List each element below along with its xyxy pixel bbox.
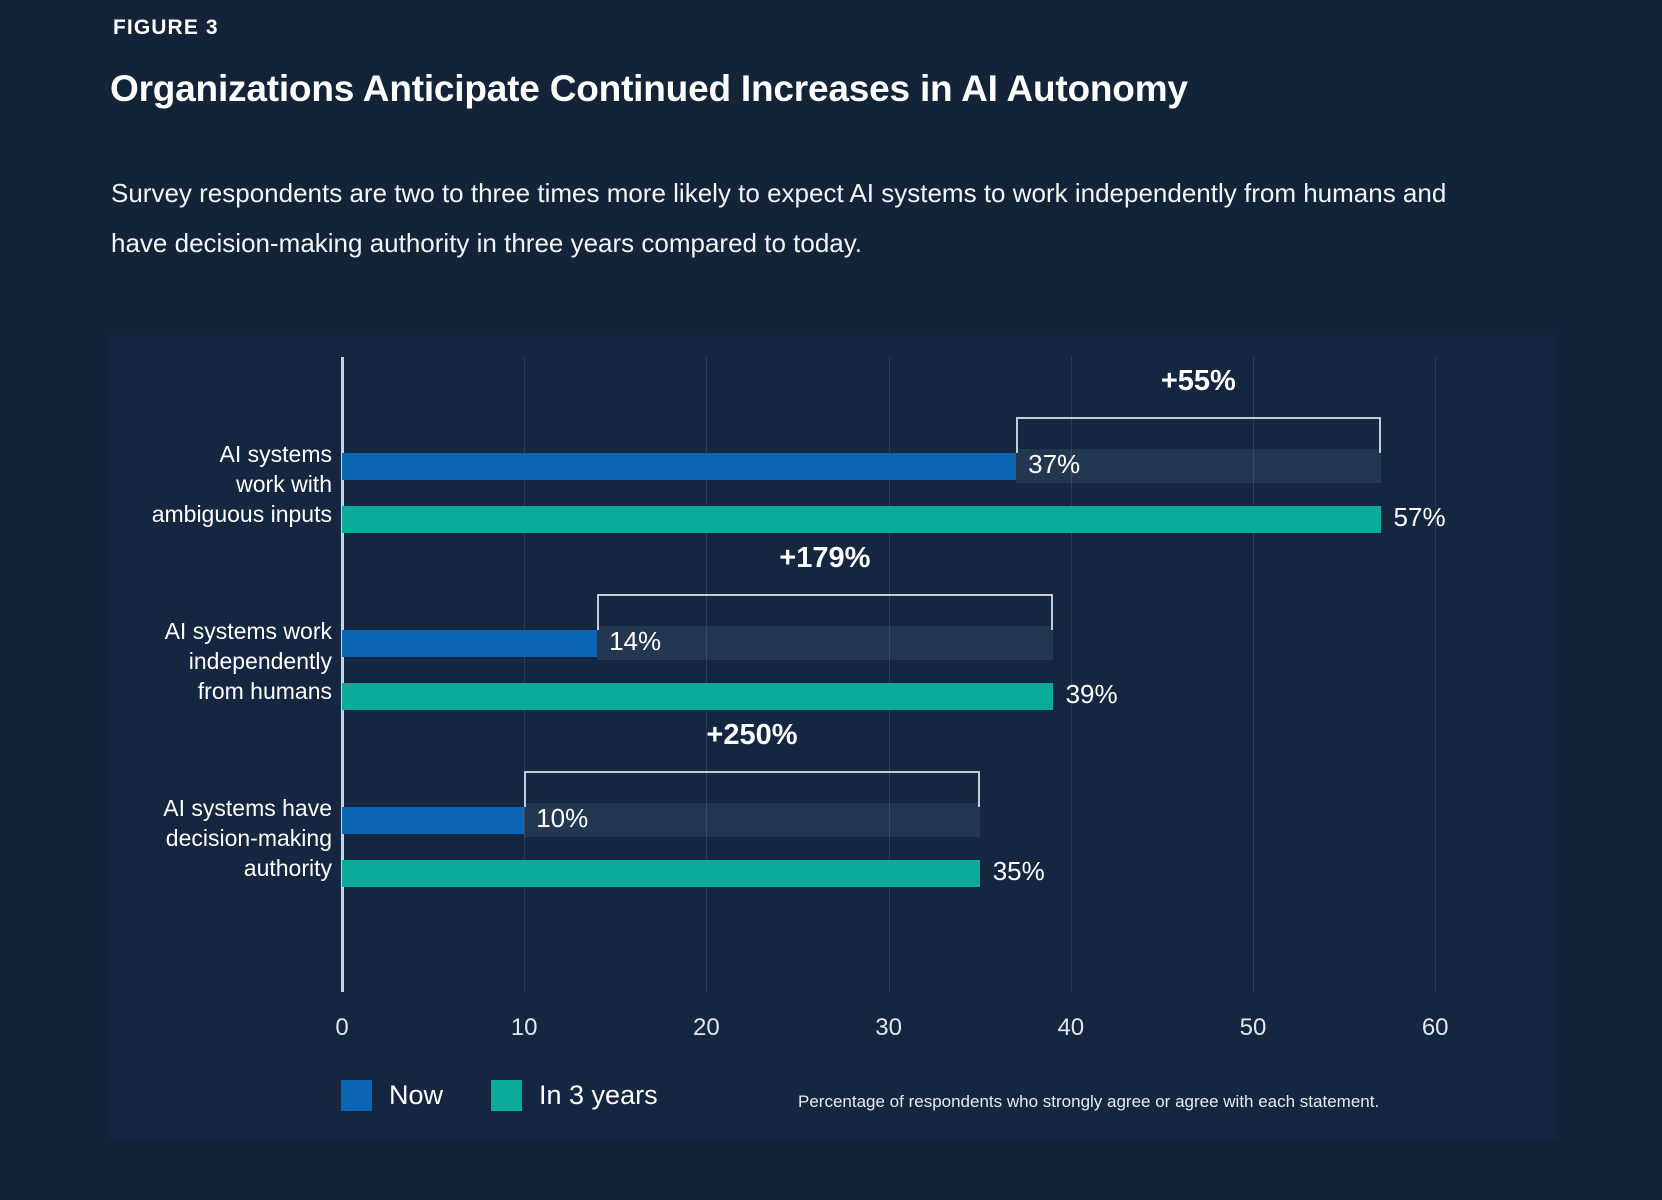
legend-swatch-now: [341, 1080, 372, 1111]
growth-bracket: [1016, 417, 1380, 453]
category-label: AI systems work with ambiguous inputs: [12, 439, 332, 529]
bar-value-label-now: 10%: [536, 803, 588, 834]
growth-bracket: [597, 594, 1053, 630]
page-title: Organizations Anticipate Continued Incre…: [110, 68, 1188, 110]
growth-percent-label: +179%: [779, 542, 870, 575]
growth-ghost-bar: [597, 626, 1053, 660]
legend-label-now: Now: [389, 1080, 443, 1111]
growth-percent-label: +55%: [1161, 365, 1236, 398]
chart-plot-area: 0102030405060AI systems work with ambigu…: [108, 335, 1558, 1140]
chart-footnote: Percentage of respondents who strongly a…: [798, 1092, 1379, 1112]
x-axis-tick-label: 20: [693, 1014, 720, 1042]
bar-now: [342, 453, 1016, 480]
x-axis-tick-label: 60: [1422, 1014, 1449, 1042]
x-axis-tick-label: 50: [1240, 1014, 1267, 1042]
growth-ghost-bar: [524, 803, 980, 837]
figure-page: FIGURE 3 Organizations Anticipate Contin…: [0, 0, 1662, 1200]
legend-label-in-3-years: In 3 years: [539, 1080, 658, 1111]
bar-value-label-in-3-years: 39%: [1066, 679, 1118, 710]
bar-value-label-now: 14%: [609, 626, 661, 657]
x-axis-tick-label: 10: [511, 1014, 538, 1042]
bar-value-label-in-3-years: 57%: [1394, 502, 1446, 533]
category-label: AI systems work independently from human…: [12, 616, 332, 706]
bar-now: [342, 807, 524, 834]
x-axis-tick-label: 40: [1057, 1014, 1084, 1042]
legend-item-now[interactable]: Now: [341, 1080, 443, 1111]
x-axis-tick-label: 30: [875, 1014, 902, 1042]
bar-value-label-now: 37%: [1028, 449, 1080, 480]
gridline: [1435, 357, 1436, 992]
legend-item-in-3-years[interactable]: In 3 years: [491, 1080, 658, 1111]
chart-legend: Now In 3 years: [341, 1080, 706, 1111]
bar-in-3-years: [342, 860, 980, 887]
chart-panel: 0102030405060AI systems work with ambigu…: [108, 335, 1558, 1140]
figure-eyebrow: FIGURE 3: [113, 16, 219, 40]
bar-in-3-years: [342, 683, 1053, 710]
category-label: AI systems have decision-making authorit…: [12, 793, 332, 883]
bar-in-3-years: [342, 506, 1381, 533]
legend-swatch-in-3-years: [491, 1080, 522, 1111]
growth-percent-label: +250%: [706, 719, 797, 752]
growth-bracket: [524, 771, 980, 807]
bar-now: [342, 630, 597, 657]
bar-value-label-in-3-years: 35%: [993, 856, 1045, 887]
figure-subtitle: Survey respondents are two to three time…: [111, 168, 1471, 268]
x-axis-tick-label: 0: [335, 1014, 348, 1042]
